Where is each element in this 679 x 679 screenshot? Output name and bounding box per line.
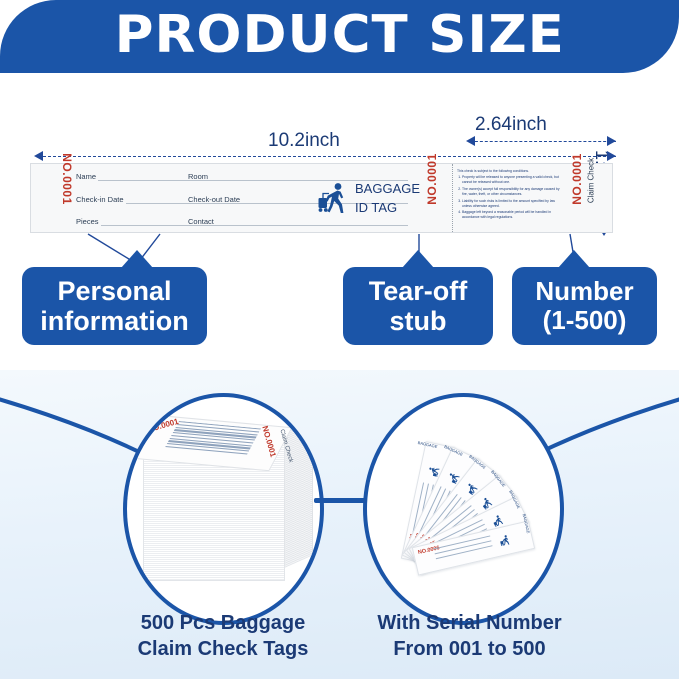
field-name-label: Name [76,172,96,181]
terms-item: The owner(s) accept full responsibility … [462,187,563,197]
tag-title-line2: ID TAG [355,199,435,218]
callout-number-line1: Number [535,277,633,306]
fan-tag-word: BAGGAGE [490,469,506,488]
product-size-infographic: PRODUCT SIZE 10.2inch 2.64inch 1.26inch … [0,0,679,679]
callout-tip-icon [402,250,434,268]
width-dimension-line [38,156,616,157]
terms-heading: This check is subject to the following c… [457,169,563,174]
callout-tearoff-line2: stub [369,306,468,336]
terms-item: Property will be released to anyone pres… [462,175,563,185]
caption-left: 500 Pcs Baggage Claim Check Tags [108,610,338,662]
field-checkout-label: Check-out Date [188,195,240,204]
field-contact-label: Contact [188,217,214,226]
stub-arrow-right-icon [607,136,616,146]
fan-tag-word: BAGGAGE [417,440,438,449]
field-contact: Contact [188,217,408,226]
caption-left-line1: 500 Pcs Baggage [108,610,338,636]
callout-personal-information: Personal information [22,267,207,345]
callout-number-range: Number (1-500) [512,267,657,345]
terms-item: Liability for such risks is limited to t… [462,199,563,209]
caption-right: With Serial Number From 001 to 500 [352,610,587,662]
tag-serial-left: NO.0001 [60,153,74,205]
field-pieces-label: Pieces [76,217,99,226]
stub-arrow-left-icon [466,136,475,146]
callout-number-line2: (1-500) [535,306,633,335]
width-dimension-label: 10.2inch [268,130,340,152]
fan-tag-word: BAGGAGE [508,489,521,509]
perforation-line [452,164,453,232]
header-banner: PRODUCT SIZE [0,0,679,73]
traveler-with-suitcase-icon [317,181,353,217]
field-checkin-label: Check-in Date [76,195,124,204]
tag-title-line1: BAGGAGE [355,180,435,199]
width-arrow-left-icon [34,151,43,161]
field-room-label: Room [188,172,208,181]
tag-stack-illustration: NO.0001 NO.0001 Claim Check [141,415,313,605]
page-title: PRODUCT SIZE [114,9,564,64]
fan-tag-word: BAGGAGE [522,513,531,534]
callout-personal-line1: Personal [40,276,189,306]
width-arrow-right-icon [607,151,616,161]
decorative-swoosh-lines [0,370,679,510]
tag-title: BAGGAGE ID TAG [355,180,435,218]
callout-personal-line2: information [40,306,189,336]
callout-tear-off-stub: Tear-off stub [343,267,493,345]
tag-serial-middle: NO.0001 [425,153,439,205]
stub-dimension-label: 2.64inch [475,114,547,136]
caption-left-line2: Claim Check Tags [108,636,338,662]
callout-tearoff-line1: Tear-off [369,276,468,306]
callout-tip-icon [121,250,153,268]
traveler-with-suitcase-icon [498,533,513,548]
terms-item: Baggage left beyond a reasonable period … [462,210,563,220]
photo-circle-fan: NO.0001 BAGGAGE NO.0002 [363,393,564,625]
fan-tag-lines [434,535,494,563]
photo-circle-stack: NO.0001 NO.0001 Claim Check [123,393,324,625]
tag-fan-illustration: NO.0001 BAGGAGE NO.0002 [367,397,560,621]
caption-right-line1: With Serial Number [352,610,587,636]
callout-tip-icon [558,250,590,268]
tag-serial-right: NO.0001 [570,153,584,205]
stub-dimension-line [470,141,616,142]
field-contact-line [216,217,408,226]
terms-and-conditions: This check is subject to the following c… [457,169,563,231]
claim-check-label: Claim Check [587,158,596,204]
caption-right-line2: From 001 to 500 [352,636,587,662]
circle-connector [314,498,366,503]
terms-list: Property will be released to anyone pres… [457,175,563,220]
